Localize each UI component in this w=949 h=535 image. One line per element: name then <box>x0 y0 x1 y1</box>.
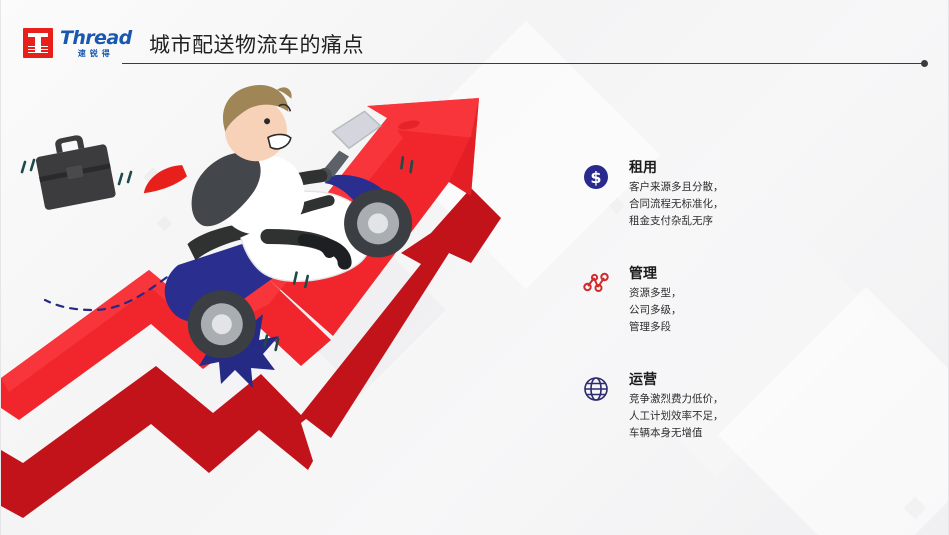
feature-line: 合同流程无标准化， <box>629 196 911 213</box>
illustration-scooter-arrow <box>1 78 541 535</box>
dollar-circle-icon: $ <box>581 162 611 192</box>
feature-item-operations: 运营 竞争激烈费力低价， 人工计划效率不足， 车辆本身无增值 <box>581 370 911 442</box>
feature-item-rental: $ 租用 客户来源多且分散， 合同流程无标准化， 租金支付杂乱无序 <box>581 158 911 230</box>
slide-header: Thread 速锐得 城市配送物流车的痛点 <box>1 0 948 78</box>
slide: Thread 速锐得 城市配送物流车的痛点 <box>0 0 949 535</box>
feature-line: 客户来源多且分散， <box>629 179 911 196</box>
page-title: 城市配送物流车的痛点 <box>149 29 364 59</box>
feature-title: 运营 <box>629 370 911 388</box>
svg-text:$: $ <box>590 168 601 187</box>
brand-logo[interactable]: Thread 速锐得 <box>23 28 132 58</box>
globe-icon <box>581 374 611 404</box>
feature-line: 车辆本身无增值 <box>629 425 911 442</box>
logo-wordmark: Thread <box>60 29 132 48</box>
red-square-t-logo-icon <box>23 28 53 58</box>
title-underline <box>122 63 925 64</box>
feature-line: 人工计划效率不足， <box>629 408 911 425</box>
feature-line: 公司多级， <box>629 302 911 319</box>
feature-item-management: 管理 资源多型， 公司多级， 管理多段 <box>581 264 911 336</box>
logo-text: Thread 速锐得 <box>60 29 132 58</box>
rider-cape <box>139 164 188 194</box>
feature-line: 租金支付杂乱无序 <box>629 213 911 230</box>
pain-points-list: $ 租用 客户来源多且分散， 合同流程无标准化， 租金支付杂乱无序 <box>581 158 911 442</box>
feature-title: 管理 <box>629 264 911 282</box>
title-underline-end-dot <box>921 60 928 67</box>
briefcase-icon <box>33 130 117 210</box>
feature-line: 管理多段 <box>629 319 911 336</box>
feature-title: 租用 <box>629 158 911 176</box>
feature-line: 资源多型， <box>629 285 911 302</box>
feature-line: 竞争激烈费力低价， <box>629 391 911 408</box>
logo-chinese-name: 速锐得 <box>60 50 132 58</box>
network-nodes-icon <box>581 268 611 298</box>
